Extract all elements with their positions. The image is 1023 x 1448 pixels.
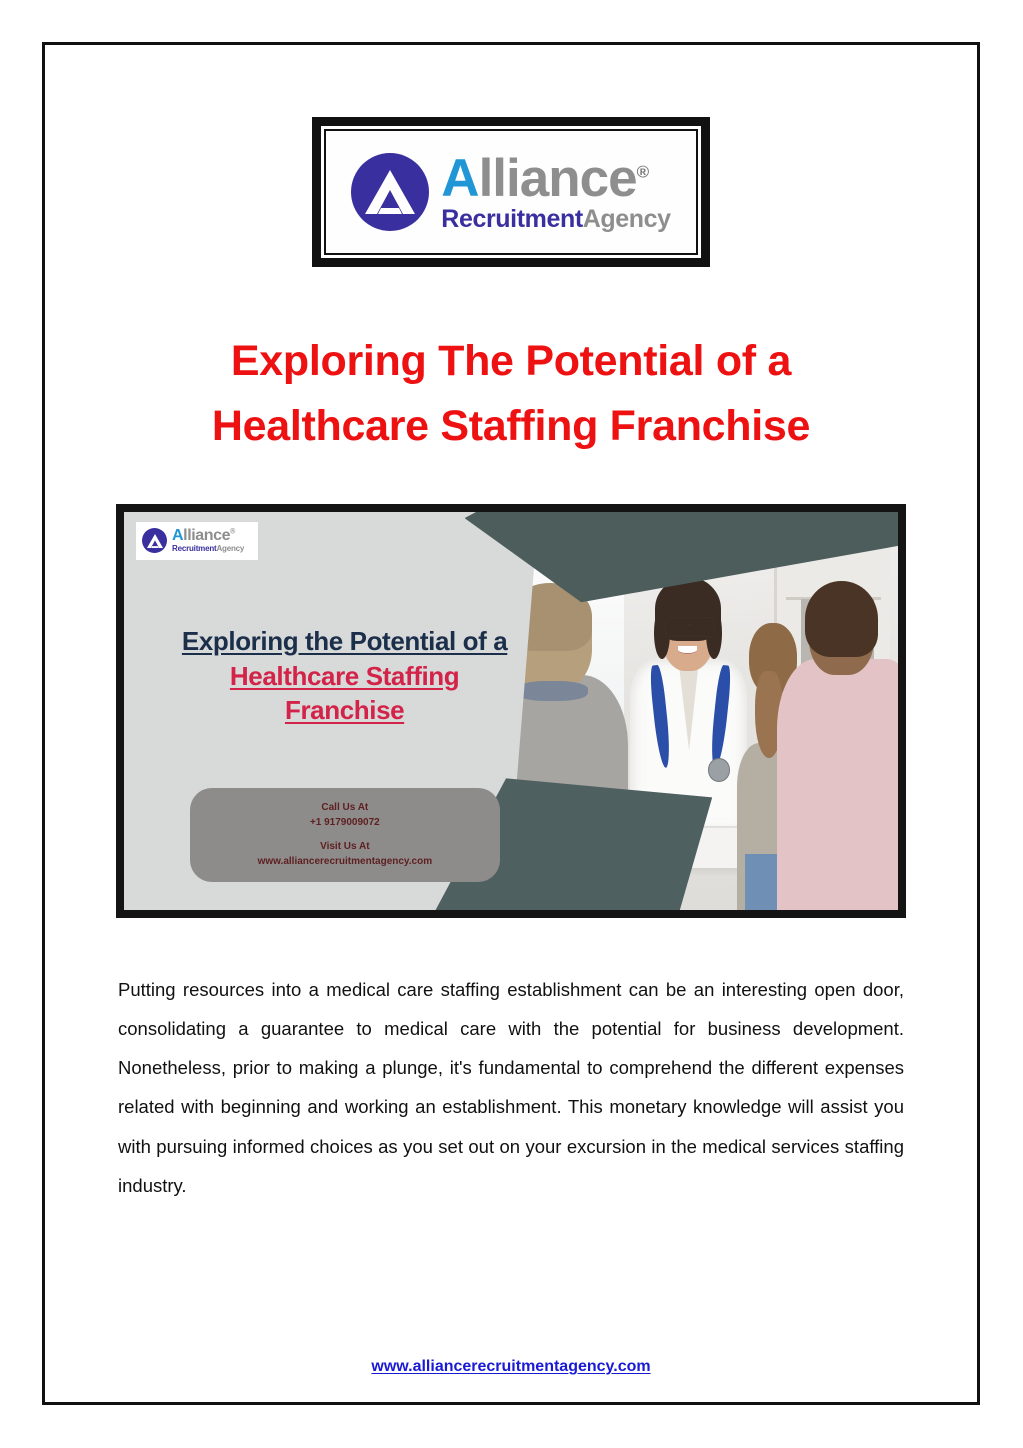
wordmark-alliance: Alliance® bbox=[441, 152, 670, 205]
wordmark-recruitment: Recruitment bbox=[441, 205, 582, 233]
banner-image: Alliance® RecruitmentAgency Exploring th… bbox=[116, 504, 906, 918]
banner-wordmark-subtitle: RecruitmentAgency bbox=[172, 545, 244, 553]
banner-registered-mark-icon: ® bbox=[230, 529, 235, 536]
call-us-label: Call Us At bbox=[198, 800, 492, 815]
banner-wordmark-agency: Agency bbox=[216, 544, 244, 553]
photo-stethoscope-chestpiece bbox=[708, 758, 730, 781]
banner-wordmark-recruitment: Recruitment bbox=[172, 544, 216, 553]
registered-mark-icon: ® bbox=[637, 162, 649, 181]
banner-headline: Exploring the Potential of a Healthcare … bbox=[124, 624, 565, 728]
wordmark-subtitle: RecruitmentAgency bbox=[441, 207, 670, 232]
wordmark-a: A bbox=[441, 149, 478, 208]
banner-headline-line-2: Healthcare Staffing bbox=[124, 659, 565, 694]
wordmark-agency: Agency bbox=[583, 205, 671, 233]
company-logo: Alliance® RecruitmentAgency bbox=[324, 129, 698, 255]
page-content: Alliance® RecruitmentAgency Exploring Th… bbox=[45, 45, 977, 1402]
website-url: www.alliancerecruitmentagency.com bbox=[198, 854, 492, 869]
alliance-a-mark-icon bbox=[351, 153, 429, 231]
company-wordmark: Alliance® RecruitmentAgency bbox=[441, 152, 670, 232]
photo-mother-hair bbox=[805, 581, 877, 657]
banner-stage: Alliance® RecruitmentAgency Exploring th… bbox=[124, 512, 898, 910]
page-title-line-2: Healthcare Staffing Franchise bbox=[111, 394, 911, 459]
banner-headline-line-1: Exploring the Potential of a bbox=[124, 624, 565, 659]
wordmark-lliance: lliance bbox=[479, 149, 637, 208]
banner-headline-line-3: Franchise bbox=[124, 693, 565, 728]
body-paragraph: Putting resources into a medical care st… bbox=[118, 970, 904, 1205]
banner-logo: Alliance® RecruitmentAgency bbox=[136, 522, 258, 560]
page-title: Exploring The Potential of a Healthcare … bbox=[111, 329, 911, 460]
photo-doctor-glasses bbox=[665, 617, 715, 637]
banner-wordmark-lliance: lliance bbox=[183, 527, 230, 544]
banner-contact-box: Call Us At +1 9179009072 Visit Us At www… bbox=[190, 788, 500, 882]
phone-number: +1 9179009072 bbox=[198, 815, 492, 830]
page-title-line-1: Exploring The Potential of a bbox=[111, 329, 911, 394]
visit-us-label: Visit Us At bbox=[198, 839, 492, 854]
company-logo-frame: Alliance® RecruitmentAgency bbox=[312, 117, 710, 267]
document-page: Alliance® RecruitmentAgency Exploring Th… bbox=[42, 42, 980, 1405]
banner-wordmark-a: A bbox=[172, 527, 183, 544]
photo-mother-body bbox=[777, 659, 898, 910]
banner-wordmark: Alliance® RecruitmentAgency bbox=[172, 528, 244, 553]
footer-website-link[interactable]: www.alliancerecruitmentagency.com bbox=[45, 1358, 977, 1376]
banner-wordmark-alliance: Alliance® bbox=[172, 528, 244, 544]
contact-spacer bbox=[198, 830, 492, 839]
banner-alliance-a-mark-icon bbox=[142, 528, 167, 553]
